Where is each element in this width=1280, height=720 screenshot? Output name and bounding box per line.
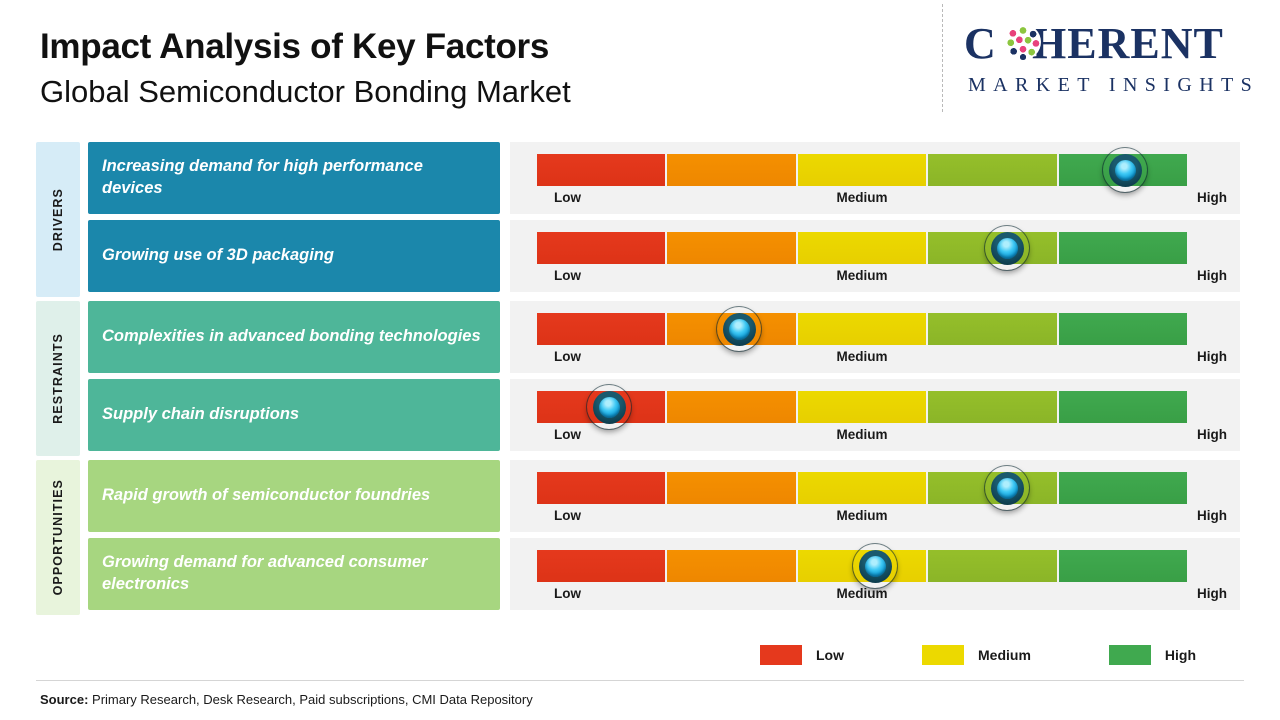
scale-label-low: Low — [554, 508, 581, 523]
header: Impact Analysis of Key Factors Global Se… — [0, 0, 1280, 130]
factor-label: Rapid growth of semiconductor foundries — [102, 485, 430, 507]
scale-labels: Low Medium High — [537, 268, 1227, 286]
legend-swatch-low — [760, 645, 802, 665]
gauge-segment-5 — [1059, 472, 1187, 504]
gauge-segment-5 — [1059, 313, 1187, 345]
impact-marker[interactable] — [587, 385, 631, 429]
gauge-bar — [537, 313, 1187, 345]
legend-label-medium: Medium — [978, 647, 1031, 663]
gauge-segment-2 — [667, 550, 795, 582]
legend-swatch-medium — [922, 645, 964, 665]
factor-label: Supply chain disruptions — [102, 404, 299, 426]
scale-label-low: Low — [554, 268, 581, 283]
gauge-segment-2 — [667, 391, 795, 423]
gauge-row: Low Medium High — [510, 379, 1240, 451]
page-title: Impact Analysis of Key Factors — [40, 28, 571, 67]
scale-label-medium: Medium — [836, 427, 887, 442]
factor-label: Growing use of 3D packaging — [102, 245, 334, 267]
gauge-segment-3 — [798, 472, 926, 504]
gauge-segment-4 — [928, 550, 1056, 582]
gauge-segment-1 — [537, 232, 665, 264]
logo-letters-rest: HERENT — [1032, 19, 1224, 68]
gauge-segment-1 — [537, 472, 665, 504]
logo-tagline: MARKET INSIGHTS — [968, 74, 1259, 97]
scale-label-medium: Medium — [836, 190, 887, 205]
footer-divider — [36, 680, 1244, 681]
scale-label-low: Low — [554, 427, 581, 442]
gauge-segment-5 — [1059, 391, 1187, 423]
scale-label-low: Low — [554, 190, 581, 205]
scale-label-low: Low — [554, 349, 581, 364]
scale-labels: Low Medium High — [537, 427, 1227, 445]
scale-label-high: High — [1197, 508, 1227, 523]
source-text: Primary Research, Desk Research, Paid su… — [88, 692, 532, 707]
source-note: Source: Primary Research, Desk Research,… — [40, 692, 533, 707]
factor-box[interactable]: Increasing demand for high performance d… — [88, 142, 500, 214]
gauge-segment-4 — [928, 391, 1056, 423]
legend-item-medium: Medium — [922, 645, 1031, 665]
brand-logo: COHERENT MARKET INSIGHTS — [932, 16, 1262, 112]
gauge-segment-2 — [667, 232, 795, 264]
logo-divider — [942, 4, 943, 112]
category-band-opportunities: OPPORTUNITIES — [36, 460, 80, 615]
gauge-bar — [537, 154, 1187, 186]
impact-marker[interactable] — [985, 226, 1029, 270]
scale-labels: Low Medium High — [537, 349, 1227, 367]
logo-letter-c: C — [964, 19, 997, 68]
legend-swatch-high — [1109, 645, 1151, 665]
category-band-restraints: RESTRAINTS — [36, 301, 80, 456]
source-label: Source: — [40, 692, 88, 707]
legend: Low Medium High — [760, 645, 1274, 665]
gauge-bar — [537, 472, 1187, 504]
category-label-restraints: RESTRAINTS — [51, 333, 65, 424]
gauge-bar — [537, 232, 1187, 264]
category-band-drivers: DRIVERS — [36, 142, 80, 297]
factor-box[interactable]: Complexities in advanced bonding technol… — [88, 301, 500, 373]
factor-box[interactable]: Growing demand for advanced consumer ele… — [88, 538, 500, 610]
impact-marker[interactable] — [985, 466, 1029, 510]
scale-label-medium: Medium — [836, 268, 887, 283]
legend-label-high: High — [1165, 647, 1196, 663]
gauge-segment-1 — [537, 313, 665, 345]
globe-icon — [1005, 24, 1041, 60]
impact-marker[interactable] — [717, 307, 761, 351]
scale-label-high: High — [1197, 349, 1227, 364]
gauge-segment-5 — [1059, 550, 1187, 582]
gauge-segment-4 — [928, 313, 1056, 345]
factor-label: Growing demand for advanced consumer ele… — [102, 552, 486, 596]
gauge-segment-2 — [667, 472, 795, 504]
scale-label-high: High — [1197, 190, 1227, 205]
gauge-bar — [537, 391, 1187, 423]
category-label-opportunities: OPPORTUNITIES — [51, 479, 65, 595]
scale-label-low: Low — [554, 586, 581, 601]
factor-box[interactable]: Rapid growth of semiconductor foundries — [88, 460, 500, 532]
gauge-segment-1 — [537, 550, 665, 582]
scale-label-high: High — [1197, 268, 1227, 283]
logo-wordmark: COHERENT — [964, 22, 1224, 66]
impact-marker[interactable] — [853, 544, 897, 588]
factor-box[interactable]: Growing use of 3D packaging — [88, 220, 500, 292]
scale-labels: Low Medium High — [537, 190, 1227, 208]
title-block: Impact Analysis of Key Factors Global Se… — [40, 28, 571, 111]
factor-label: Increasing demand for high performance d… — [102, 156, 486, 200]
gauge-segment-1 — [537, 154, 665, 186]
page-subtitle: Global Semiconductor Bonding Market — [40, 73, 571, 112]
scale-labels: Low Medium High — [537, 508, 1227, 526]
legend-item-high: High — [1109, 645, 1196, 665]
legend-item-low: Low — [760, 645, 844, 665]
factor-label: Complexities in advanced bonding technol… — [102, 326, 481, 348]
gauge-segment-5 — [1059, 232, 1187, 264]
gauge-segment-3 — [798, 154, 926, 186]
gauge-row: Low Medium High — [510, 538, 1240, 610]
gauge-segment-3 — [798, 313, 926, 345]
legend-label-low: Low — [816, 647, 844, 663]
scale-label-medium: Medium — [836, 349, 887, 364]
gauge-row: Low Medium High — [510, 220, 1240, 292]
gauge-segment-3 — [798, 232, 926, 264]
scale-label-high: High — [1197, 427, 1227, 442]
scale-labels: Low Medium High — [537, 586, 1227, 604]
gauge-segment-3 — [798, 391, 926, 423]
scale-label-high: High — [1197, 586, 1227, 601]
scale-label-medium: Medium — [836, 586, 887, 601]
impact-marker[interactable] — [1103, 148, 1147, 192]
gauge-segment-4 — [928, 154, 1056, 186]
gauge-row: Low Medium High — [510, 142, 1240, 214]
scale-label-medium: Medium — [836, 508, 887, 523]
factor-box[interactable]: Supply chain disruptions — [88, 379, 500, 451]
gauge-row: Low Medium High — [510, 301, 1240, 373]
gauge-segment-2 — [667, 154, 795, 186]
gauge-row: Low Medium High — [510, 460, 1240, 532]
category-label-drivers: DRIVERS — [51, 188, 65, 251]
